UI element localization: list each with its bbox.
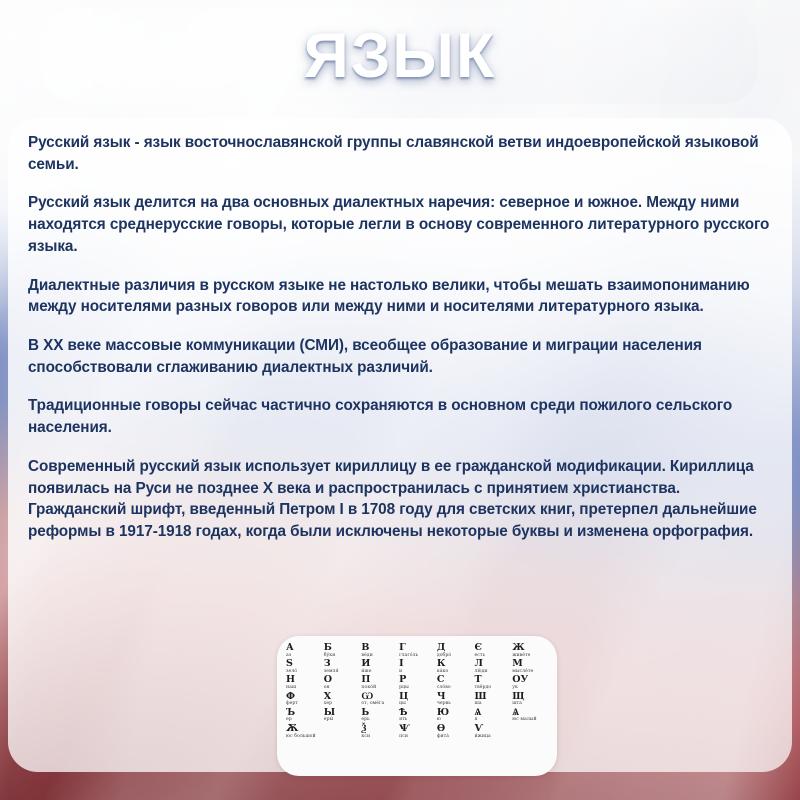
alphabet-cell: Жживе́те (511, 643, 549, 659)
alphabet-glyph: И (361, 659, 398, 669)
alphabet-glyph: З (324, 659, 361, 669)
alphabet-glyph: Ц (399, 692, 436, 702)
alphabet-glyph: І (399, 659, 436, 669)
alphabet-glyph: Ш (475, 692, 512, 702)
alphabet-cell: Щшта (511, 692, 549, 708)
alphabet-row: Ѫюс большойѮксиѰпсиѲфита́Ѵи́жица (285, 724, 549, 740)
paragraph: Современный русский язык использует кири… (28, 456, 772, 543)
alphabet-glyph: Ѕ (286, 659, 323, 669)
paragraph: Диалектные различия в русском языке не н… (28, 275, 772, 318)
alphabet-cell: Ссло́во (436, 675, 474, 691)
alphabet-glyph: Ч (437, 692, 474, 702)
paragraph: В XX веке массовые коммуникации (СМИ), в… (28, 335, 772, 378)
alphabet-glyph: Ь (361, 708, 398, 718)
alphabet-cell: Ии́же (360, 659, 398, 675)
alphabet-table-body: АазБбу́киВве́диГглаго́льДдобро́ЄестьЖжив… (285, 643, 549, 740)
alphabet-cell: Ннаш (285, 675, 323, 691)
alphabet-glyph: Ѧ (512, 708, 549, 718)
alphabet-row: НнашОонПпоко́йРрцыСсло́воТтвёрдоОУук (285, 675, 549, 691)
alphabet-glyph-name: юс большой (286, 734, 323, 740)
alphabet-cell: Ббу́ки (323, 643, 361, 659)
alphabet-cell: Ѧюс малый (511, 708, 549, 724)
alphabet-cell: Кка́ко (436, 659, 474, 675)
alphabet-cell: Ѱпси (398, 724, 436, 740)
alphabet-glyph: Ж (512, 643, 549, 653)
alphabet-cell: Ццы (398, 692, 436, 708)
alphabet-cell: Ххер (323, 692, 361, 708)
alphabet-cell: Ѧя (474, 708, 512, 724)
alphabet-glyph: Ѡ (361, 692, 398, 702)
alphabet-cell: Ѳфита́ (436, 724, 474, 740)
paragraph: Русский язык делится на два основных диа… (28, 192, 772, 257)
alphabet-glyph: Л (475, 659, 512, 669)
alphabet-glyph-name: рцы (399, 685, 436, 691)
alphabet-glyph-name: юс малый (512, 717, 549, 723)
alphabet-glyph: Ю (437, 708, 474, 718)
alphabet-cell: Оон (323, 675, 361, 691)
alphabet-glyph: О (324, 675, 361, 685)
alphabet-row: Ѕзело́Зземля́Ии́жеІиКка́коЛлю́диМмысле́т… (285, 659, 549, 675)
alphabet-cell: Ддобро́ (436, 643, 474, 659)
alphabet-glyph-name: ерь (361, 717, 398, 723)
alphabet-cell: Гглаго́ль (398, 643, 436, 659)
alphabet-glyph-name: фита́ (437, 734, 474, 740)
alphabet-cell: Фферт (285, 692, 323, 708)
alphabet-glyph: Х (324, 692, 361, 702)
alphabet-glyph: Ы (324, 708, 361, 718)
alphabet-glyph: Т (475, 675, 512, 685)
alphabet-glyph: Щ (512, 692, 549, 702)
alphabet-cell: Ммысле́те (511, 659, 549, 675)
alphabet-glyph: Ѳ (437, 724, 474, 734)
alphabet-cell: Ррцы (398, 675, 436, 691)
alphabet-cell: Вве́ди (360, 643, 398, 659)
alphabet-glyph: Ѧ (475, 708, 512, 718)
alphabet-glyph-name: ук (512, 685, 549, 691)
alphabet-glyph-name: пси (399, 734, 436, 740)
church-slavonic-alphabet-table: АазБбу́киВве́диГглаго́льДдобро́ЄестьЖжив… (285, 643, 549, 740)
page-title: ЯЗЫК (304, 25, 497, 88)
paragraph: Русский язык - язык восточнославянской г… (28, 132, 772, 175)
alphabet-glyph: Ѱ (399, 724, 436, 734)
alphabet-glyph: Ѣ (399, 708, 436, 718)
alphabet-glyph: Б (324, 643, 361, 653)
alphabet-glyph-name: кси (361, 734, 398, 740)
alphabet-cell: Ѵи́жица (474, 724, 512, 740)
alphabet-glyph: Р (399, 675, 436, 685)
alphabet-cell: Ыеры́ (323, 708, 361, 724)
alphabet-cell: Іи (398, 659, 436, 675)
alphabet-glyph: Ѫ (286, 724, 323, 734)
alphabet-glyph: К (437, 659, 474, 669)
alphabet-glyph-name: наш (286, 685, 323, 691)
alphabet-glyph-name: он (324, 685, 361, 691)
alphabet-cell: Шша (474, 692, 512, 708)
alphabet-cell: Ьерь (360, 708, 398, 724)
alphabet-cell: Ѫюс большой (285, 724, 323, 740)
alphabet-cell: Ѕзело́ (285, 659, 323, 675)
alphabet-glyph-name: сло́во (437, 685, 474, 691)
alphabet-cell: Ччервь (436, 692, 474, 708)
alphabet-glyph-name: и́жица (475, 734, 512, 740)
alphabet-cell: Ппоко́й (360, 675, 398, 691)
alphabet-glyph: Ѯ (361, 724, 398, 734)
alphabet-cell: Ллю́ди (474, 659, 512, 675)
alphabet-cell: Ттвёрдо (474, 675, 512, 691)
alphabet-cell: Ааз (285, 643, 323, 659)
alphabet-glyph: А (286, 643, 323, 653)
alphabet-table-card: АазБбу́киВве́диГглаго́льДдобро́ЄестьЖжив… (277, 636, 557, 776)
alphabet-glyph: Ъ (286, 708, 323, 718)
alphabet-cell: Ѡот, оме́га (360, 692, 398, 708)
alphabet-row: ФфертХхерѠот, оме́гаЦцыЧчервьШшаЩшта (285, 692, 549, 708)
alphabet-glyph-name: глаго́ль (399, 653, 436, 659)
paragraph: Традиционные говоры сейчас частично сохр… (28, 395, 772, 438)
alphabet-cell: Зземля́ (323, 659, 361, 675)
alphabet-glyph: Г (399, 643, 436, 653)
alphabet-glyph: П (361, 675, 398, 685)
alphabet-glyph: Ѵ (475, 724, 512, 734)
alphabet-cell: Ѯкси (360, 724, 398, 740)
alphabet-row: ЪерЫеры́ЬерьѢятьЮюѦяѦюс малый (285, 708, 549, 724)
alphabet-row: АазБбу́киВве́диГглаго́льДдобро́ЄестьЖжив… (285, 643, 549, 659)
alphabet-glyph: М (512, 659, 549, 669)
title-pill: ЯЗЫК (42, 8, 758, 104)
alphabet-glyph: Д (437, 643, 474, 653)
alphabet-glyph: Н (286, 675, 323, 685)
body-text: Русский язык - язык восточнославянской г… (28, 132, 772, 543)
alphabet-glyph: В (361, 643, 398, 653)
alphabet-glyph: Є (475, 643, 512, 653)
alphabet-cell: Ъер (285, 708, 323, 724)
alphabet-glyph-name: еры́ (324, 717, 361, 723)
alphabet-glyph: ОУ (512, 675, 549, 685)
alphabet-cell: Юю (436, 708, 474, 724)
alphabet-cell: ОУук (511, 675, 549, 691)
alphabet-glyph-name: поко́й (361, 685, 398, 691)
alphabet-cell: Ѣять (398, 708, 436, 724)
alphabet-glyph: С (437, 675, 474, 685)
alphabet-glyph: Ф (286, 692, 323, 702)
alphabet-glyph-name: твёрдо (475, 685, 512, 691)
alphabet-cell: Єесть (474, 643, 512, 659)
